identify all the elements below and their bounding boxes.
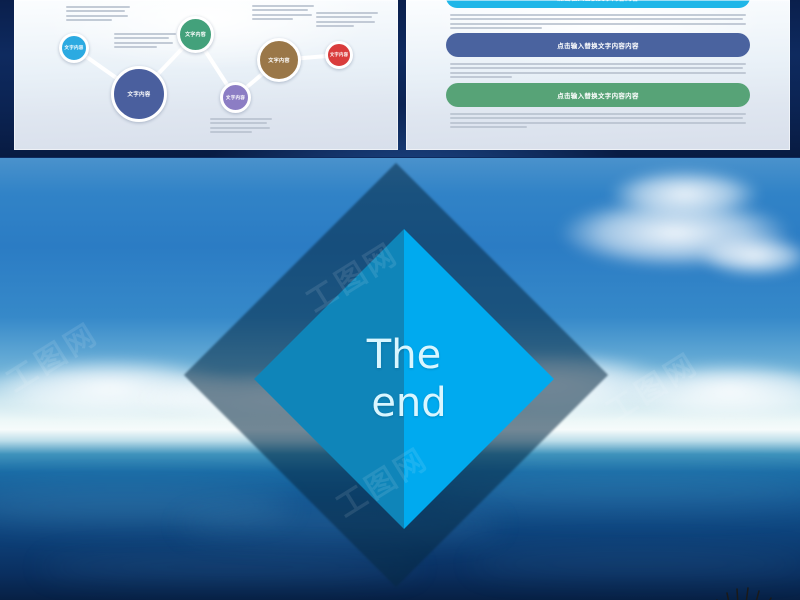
content-pill-green[interactable]: 点击输入替换文字内容内容	[446, 83, 750, 107]
placeholder-text-block	[450, 14, 746, 32]
thumbnail-right-canvas: 点击输入替换文字内容内容 点击输入替换文字内容内容 点击输入替换文字内容内容	[406, 0, 790, 150]
placeholder-text-block	[66, 6, 130, 24]
thumbnail-left-canvas: 文字内容 文字内容 文字内容 文字内容 文字内容 文字内容	[14, 0, 398, 150]
content-pill-label: 点击输入替换文字内容内容	[557, 90, 639, 100]
diagram-node[interactable]: 文字内容	[177, 16, 214, 53]
content-pill-navy[interactable]: 点击输入替换文字内容内容	[446, 33, 750, 57]
main-slide-the-end[interactable]: The end 工图网 工图网 工图网 工图网	[0, 158, 800, 600]
diagram-node[interactable]: 文字内容	[220, 82, 251, 113]
placeholder-text-block	[450, 113, 746, 131]
content-pill-label: 点击输入替换文字内容内容	[557, 40, 639, 50]
diagram-node-label: 文字内容	[226, 95, 245, 101]
content-pill-cyan[interactable]: 点击输入替换文字内容内容	[446, 0, 750, 8]
thumbnail-pill-list[interactable]: 点击输入替换文字内容内容 点击输入替换文字内容内容 点击输入替换文字内容内容	[406, 0, 790, 150]
diagram-node[interactable]: 文字内容	[111, 66, 167, 122]
cloud-icon	[610, 170, 760, 218]
slide-thumbnail-strip: 文字内容 文字内容 文字内容 文字内容 文字内容 文字内容 点击输入替换文字内容…	[0, 0, 800, 157]
diagram-node-label: 文字内容	[330, 52, 348, 58]
diagram-node-label: 文字内容	[64, 45, 83, 51]
minion-illustration	[686, 578, 800, 600]
diagram-node-label: 文字内容	[185, 31, 206, 38]
placeholder-text-block	[450, 63, 746, 81]
minion-hair	[706, 588, 781, 600]
minion-character	[686, 578, 800, 600]
wave-streak	[470, 550, 800, 578]
diagram-node-label: 文字内容	[127, 90, 150, 98]
placeholder-text-block	[172, 0, 232, 3]
diagram-node[interactable]: 文字内容	[257, 38, 301, 82]
wave-streak	[40, 553, 420, 581]
diagram-node[interactable]: 文字内容	[59, 33, 89, 63]
end-text-line2: end	[371, 382, 446, 424]
placeholder-text-block	[114, 33, 176, 51]
end-text: The end	[254, 229, 554, 529]
diagram-node-label: 文字内容	[268, 57, 290, 64]
end-diamond: The end	[254, 229, 554, 529]
end-text-line1: The	[367, 334, 441, 376]
thumbnail-network-diagram[interactable]: 文字内容 文字内容 文字内容 文字内容 文字内容 文字内容	[14, 0, 398, 150]
placeholder-text-block	[210, 118, 272, 136]
content-pill-label: 点击输入替换文字内容内容	[557, 0, 639, 2]
diagram-node[interactable]: 文字内容	[325, 41, 353, 69]
cloud-icon	[700, 236, 800, 276]
placeholder-text-block	[316, 12, 378, 30]
placeholder-text-block	[252, 5, 314, 23]
